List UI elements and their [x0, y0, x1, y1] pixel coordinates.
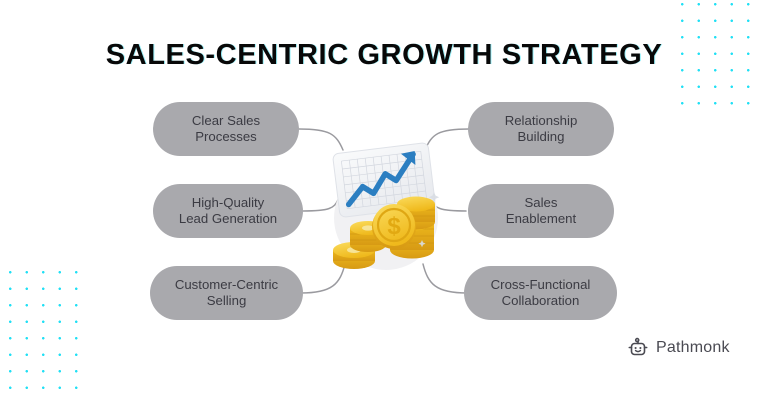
page-title: SALES-CENTRIC GROWTH STRATEGY [0, 38, 768, 72]
node-cross-functional-collaboration[interactable]: Cross-Functional Collaboration [464, 266, 617, 320]
node-high-quality-lead-generation[interactable]: High-Quality Lead Generation [153, 184, 303, 238]
node-customer-centric-selling[interactable]: Customer-Centric Selling [150, 266, 303, 320]
node-label: High-Quality Lead Generation [179, 195, 277, 227]
infographic-canvas: SALES-CENTRIC GROWTH STRATEGY Clear Sale… [0, 0, 768, 401]
pathmonk-logo: Pathmonk [626, 336, 730, 360]
strategy-diagram: Clear Sales Processes High-Quality Lead … [0, 88, 768, 320]
node-clear-sales-processes[interactable]: Clear Sales Processes [153, 102, 299, 156]
svg-text:$: $ [387, 213, 401, 240]
node-label: Clear Sales Processes [192, 113, 260, 145]
brand-name: Pathmonk [656, 339, 730, 357]
node-relationship-building[interactable]: Relationship Building [468, 102, 614, 156]
node-label: Sales Enablement [506, 195, 576, 227]
node-label: Cross-Functional Collaboration [491, 277, 591, 309]
robot-head-icon [626, 336, 650, 360]
node-label: Relationship Building [505, 113, 578, 145]
node-sales-enablement[interactable]: Sales Enablement [468, 184, 614, 238]
node-label: Customer-Centric Selling [175, 277, 278, 309]
center-illustration: $ [318, 130, 450, 278]
growth-chart-and-coins-icon: $ [318, 130, 450, 278]
